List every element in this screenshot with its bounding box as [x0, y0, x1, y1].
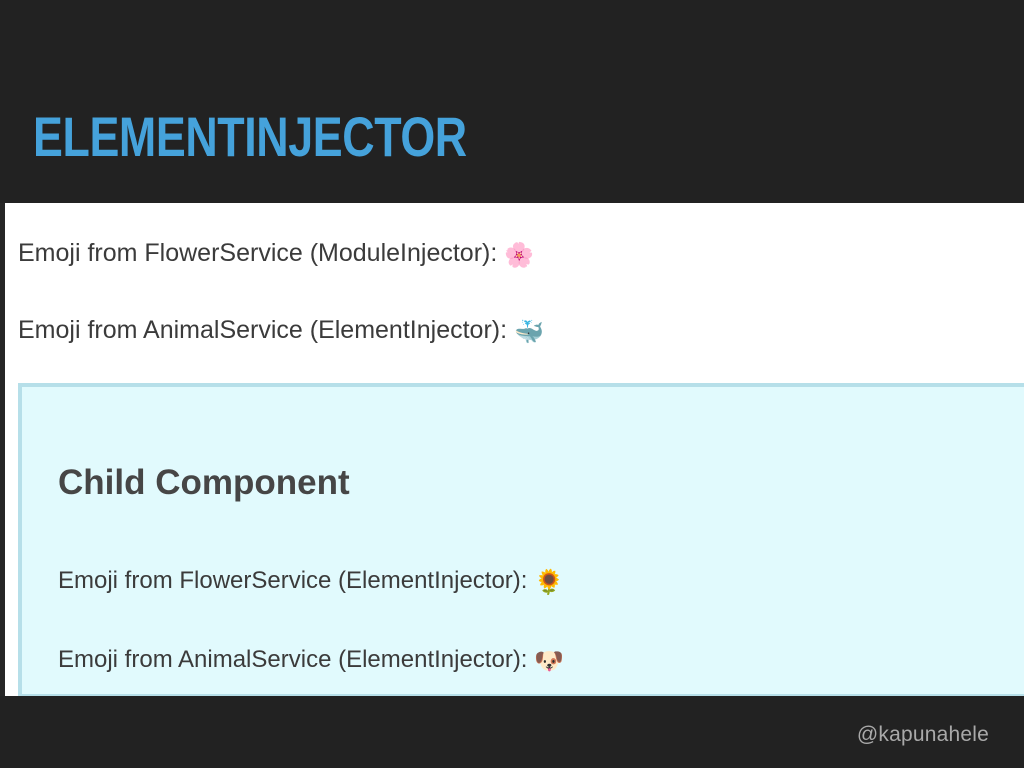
app-preview-panel: Emoji from FlowerService (ModuleInjector… [0, 203, 1024, 696]
cherry-blossom-emoji: 🌸 [504, 241, 534, 269]
child-flower-service-line: Emoji from FlowerService (ElementInjecto… [58, 567, 564, 596]
child-animal-service-line: Emoji from AnimalService (ElementInjecto… [58, 646, 564, 675]
root-animal-service-label: Emoji from AnimalService (ElementInjecto… [18, 316, 507, 344]
author-handle: @kapunahele [857, 723, 989, 747]
root-flower-service-label: Emoji from FlowerService (ModuleInjector… [18, 239, 497, 267]
child-component-heading: Child Component [58, 463, 350, 503]
child-component-card: Child Component Emoji from FlowerService… [18, 383, 1024, 696]
root-animal-service-line: Emoji from AnimalService (ElementInjecto… [18, 316, 544, 346]
spouting-whale-emoji: 🐳 [514, 318, 544, 346]
root-flower-service-line: Emoji from FlowerService (ModuleInjector… [18, 239, 534, 269]
sunflower-emoji: 🌻 [534, 568, 564, 596]
child-animal-service-label: Emoji from AnimalService (ElementInjecto… [58, 646, 527, 673]
slide-title: ElementInjector [33, 106, 467, 168]
dog-face-emoji: 🐶 [534, 647, 564, 675]
child-flower-service-label: Emoji from FlowerService (ElementInjecto… [58, 567, 527, 594]
